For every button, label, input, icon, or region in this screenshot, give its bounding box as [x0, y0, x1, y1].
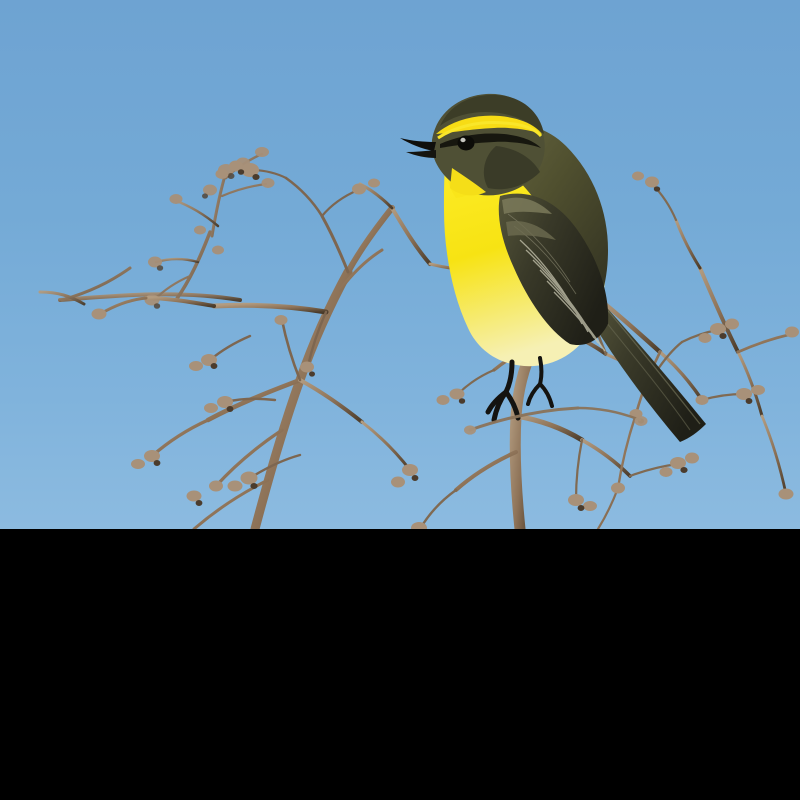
photograph	[0, 0, 800, 529]
caption-bar: Suirirí amarillo Yellow-browed Tyrant Sa…	[0, 529, 800, 730]
photo-illustration	[0, 0, 800, 529]
footer-bar: Suirirí amarillo — Satrapa icterophrys F…	[0, 730, 800, 800]
bird-photo-card: Suirirí amarillo Yellow-browed Tyrant Sa…	[0, 0, 800, 800]
